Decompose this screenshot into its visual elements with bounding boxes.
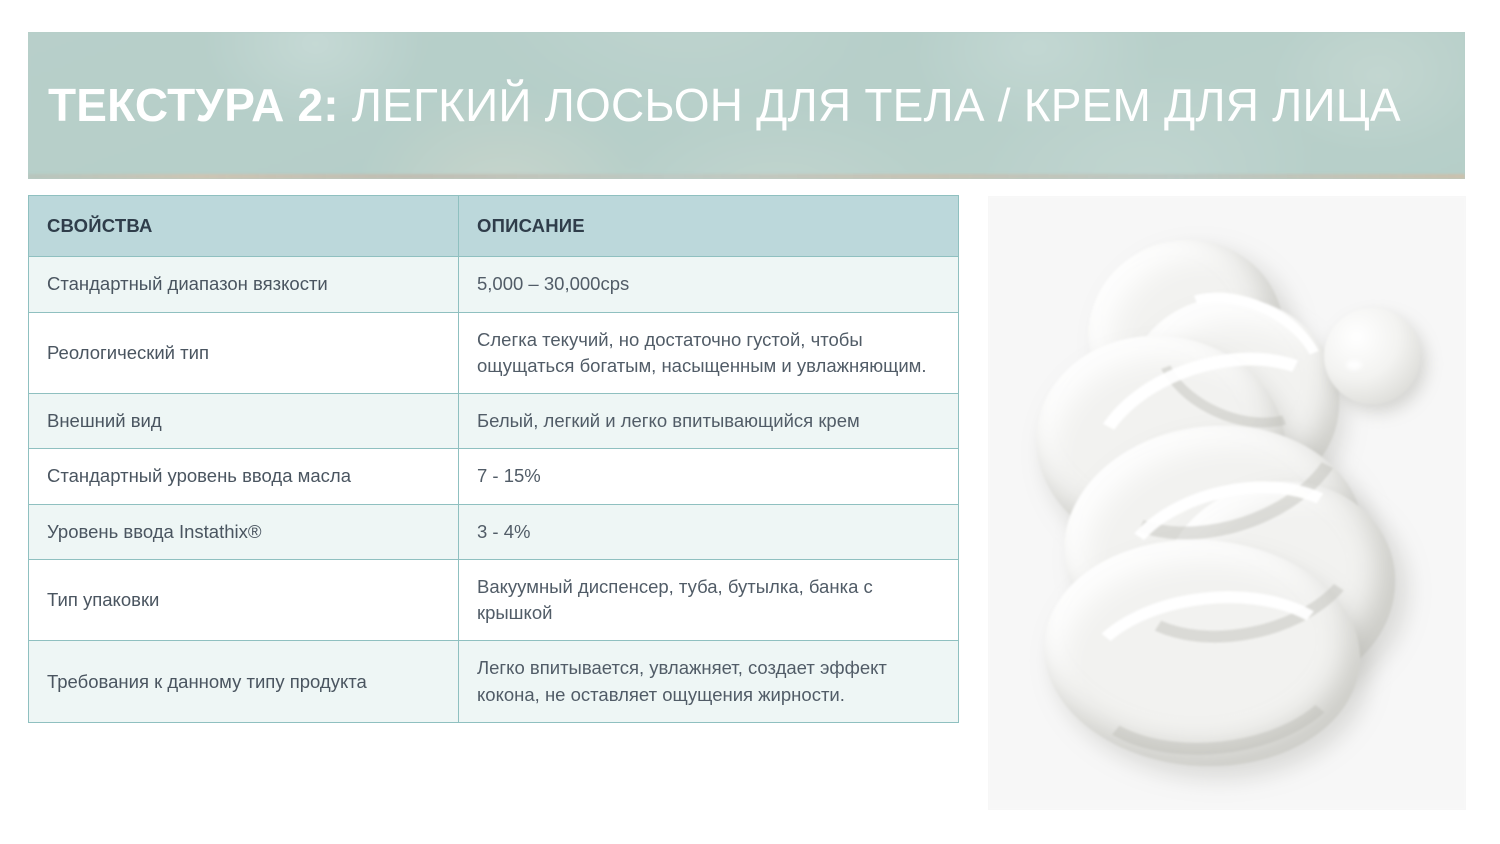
column-header-properties: СВОЙСТВА xyxy=(29,196,459,257)
table-row: Требования к данному типу продукта Легко… xyxy=(29,641,959,723)
column-header-description: ОПИСАНИЕ xyxy=(459,196,959,257)
row-description: 3 - 4% xyxy=(459,504,959,559)
page-title-bold: ТЕКСТУРА 2: xyxy=(48,79,339,131)
table-row: Уровень ввода Instathix® 3 - 4% xyxy=(29,504,959,559)
row-property: Уровень ввода Instathix® xyxy=(29,504,459,559)
row-property: Стандартный диапазон вязкости xyxy=(29,257,459,312)
specification-table: СВОЙСТВА ОПИСАНИЕ Стандартный диапазон в… xyxy=(28,195,959,723)
row-property: Реологический тип xyxy=(29,312,459,394)
page-title: ТЕКСТУРА 2: ЛЕГКИЙ ЛОСЬОН ДЛЯ ТЕЛА / КРЕ… xyxy=(48,82,1401,128)
row-property: Внешний вид xyxy=(29,394,459,449)
table-row: Реологический тип Слегка текучий, но дос… xyxy=(29,312,959,394)
table-row: Внешний вид Белый, легкий и легко впитыв… xyxy=(29,394,959,449)
row-property: Требования к данному типу продукта xyxy=(29,641,459,723)
row-description: Вакуумный диспенсер, туба, бутылка, банк… xyxy=(459,559,959,641)
banner-bottom-strip xyxy=(28,174,1465,179)
row-description: Легко впитывается, увлажняет, создает эф… xyxy=(459,641,959,723)
cream-droplet xyxy=(1324,308,1420,404)
row-description: Белый, легкий и легко впитывающийся крем xyxy=(459,394,959,449)
table-row: Стандартный диапазон вязкости 5,000 – 30… xyxy=(29,257,959,312)
row-property: Тип упаковки xyxy=(29,559,459,641)
table-head: СВОЙСТВА ОПИСАНИЕ xyxy=(29,196,959,257)
row-description: Слегка текучий, но достаточно густой, чт… xyxy=(459,312,959,394)
table-row: Стандартный уровень ввода масла 7 - 15% xyxy=(29,449,959,504)
header-banner: ТЕКСТУРА 2: ЛЕГКИЙ ЛОСЬОН ДЛЯ ТЕЛА / КРЕ… xyxy=(28,32,1465,179)
table-row: Тип упаковки Вакуумный диспенсер, туба, … xyxy=(29,559,959,641)
table-body: Стандартный диапазон вязкости 5,000 – 30… xyxy=(29,257,959,723)
page-title-light: ЛЕГКИЙ ЛОСЬОН ДЛЯ ТЕЛА / КРЕМ ДЛЯ ЛИЦА xyxy=(339,79,1401,131)
table-header-row: СВОЙСТВА ОПИСАНИЕ xyxy=(29,196,959,257)
row-description: 7 - 15% xyxy=(459,449,959,504)
row-description: 5,000 – 30,000cps xyxy=(459,257,959,312)
cream-texture-photo xyxy=(988,196,1466,810)
row-property: Стандартный уровень ввода масла xyxy=(29,449,459,504)
